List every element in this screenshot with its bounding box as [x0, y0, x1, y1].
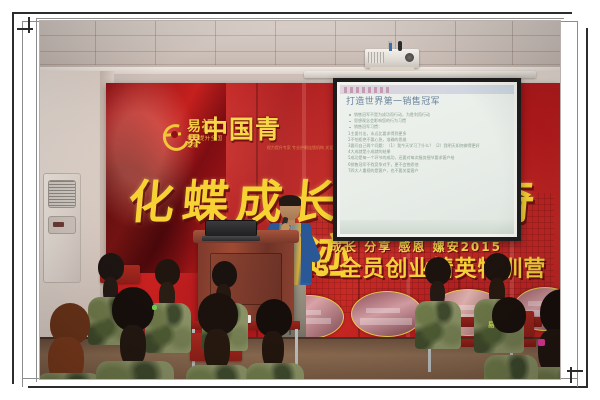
- projector-cable-blue: [389, 43, 392, 51]
- audience-uniform: [40, 373, 102, 379]
- laptop-base: [202, 236, 260, 241]
- presentation-slide: 打造世界第一销售冠军 销售冠军不是为成功而行动，为胜利而行动 思想观念会影响您的…: [340, 85, 514, 234]
- slide-footer: [340, 220, 514, 234]
- audience-uniform: [415, 301, 461, 349]
- frame-line-left-second: [17, 28, 33, 30]
- slide-header-band: [340, 85, 514, 94]
- audience-head: [492, 297, 526, 333]
- ac-display: [53, 222, 64, 227]
- projector-vent: [368, 52, 384, 63]
- projector-icon: [365, 49, 419, 68]
- frame-line-right-outer: [586, 28, 588, 388]
- audience-uniform: [484, 355, 538, 379]
- slide-bullet-list: 销售冠军不是为成功而行动，为胜利而行动 思想观念会影响您的行为习惯 销售冠军习惯…: [348, 112, 509, 174]
- banner-photo-inset: [351, 291, 423, 337]
- frame-line-right-inner: [577, 21, 578, 387]
- audience-uniform: 易视界: [96, 361, 174, 379]
- frame-line-inner-rect-left: [36, 18, 37, 382]
- frame-line-right-corner-tick: [567, 370, 583, 372]
- frame-line-top-second: [28, 17, 30, 33]
- ac-grille: [49, 181, 75, 207]
- conference-photo: 易视界 视力提升全国连锁 中国青品牌 视力提升专家 专业护眼连锁机构 关爱青少年…: [40, 21, 560, 379]
- banner-headline-left: 中国青: [203, 115, 281, 144]
- audience-uniform: [186, 365, 250, 379]
- hair-clip: [152, 305, 157, 310]
- laptop-screen: [206, 221, 256, 236]
- frame-line-left-inner: [22, 21, 23, 387]
- frame-line-left-outer: [12, 12, 14, 384]
- slide-header-mark: [344, 87, 392, 93]
- slide-title: 打造世界第一销售冠军: [346, 96, 440, 108]
- ceiling: [40, 21, 560, 71]
- screen-roller-bar: [304, 71, 536, 78]
- audience-uniform: [246, 363, 304, 379]
- hair-clip: [538, 339, 545, 346]
- photo-frame-canvas: 易视界 视力提升全国连锁 中国青品牌 视力提升专家 专业护眼连锁机构 关爱青少年…: [0, 0, 600, 400]
- slide-bullet: 7四大人重视的是客户，也不要关爱客户: [348, 168, 509, 174]
- frame-line-bottom-outer: [28, 386, 588, 388]
- laptop-icon: [202, 221, 260, 243]
- air-conditioner-icon: [43, 173, 81, 283]
- projector-lens: [405, 53, 414, 62]
- frame-line-inner-rect: [36, 18, 564, 19]
- frame-line-top-outer: [12, 12, 572, 14]
- projector-cable-black: [398, 41, 402, 51]
- projection-screen: 打造世界第一销售冠军 销售冠军不是为成功而行动，为胜利而行动 思想观念会影响您的…: [333, 78, 521, 241]
- speaker-hair: [279, 195, 301, 206]
